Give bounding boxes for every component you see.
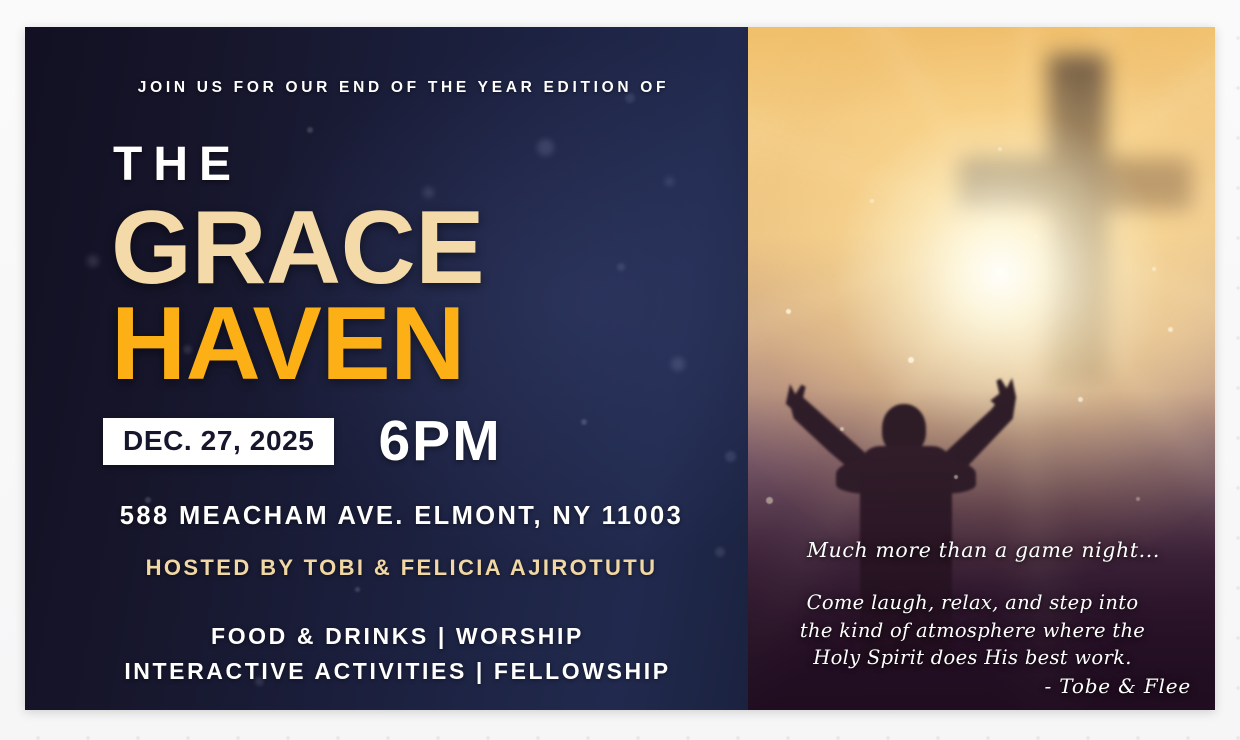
title-grace: GRACE — [111, 199, 748, 299]
event-hosts: HOSTED BY TOBI & FELICIA AJIROTUTU — [25, 555, 748, 581]
features-line-2: INTERACTIVE ACTIVITIES | FELLOWSHIP — [47, 654, 748, 689]
event-address: 588 MEACHAM AVE. ELMONT, NY 11003 — [25, 502, 748, 531]
date-time-row: DEC. 27, 2025 6PM — [103, 413, 748, 470]
event-flyer: JOIN US FOR OUR END OF THE YEAR EDITION … — [25, 27, 1215, 710]
event-time: 6PM — [378, 413, 501, 470]
flyer-image-panel: Much more than a game night... Come laug… — [748, 27, 1215, 710]
title-haven: HAVEN — [111, 295, 748, 395]
flyer-text-panel: JOIN US FOR OUR END OF THE YEAR EDITION … — [25, 27, 748, 710]
quote-lead: Much more than a game night... — [748, 538, 1197, 562]
quote-body: Come laugh, relax, and step into the kin… — [748, 589, 1197, 672]
flyer-quote: Much more than a game night... Come laug… — [748, 538, 1197, 698]
quote-line-1: Come laugh, relax, and step into — [748, 589, 1197, 617]
features-line-1: FOOD & DRINKS | WORSHIP — [47, 619, 748, 654]
event-date-badge: DEC. 27, 2025 — [103, 418, 334, 465]
flyer-kicker: JOIN US FOR OUR END OF THE YEAR EDITION … — [25, 79, 748, 97]
quote-line-3: Holy Spirit does His best work. — [748, 644, 1197, 672]
quote-line-2: the kind of atmosphere where the — [748, 617, 1197, 645]
event-features: FOOD & DRINKS | WORSHIP INTERACTIVE ACTI… — [25, 619, 748, 689]
quote-signature: - Tobe & Flee — [748, 674, 1197, 698]
title-the: THE — [113, 141, 748, 189]
